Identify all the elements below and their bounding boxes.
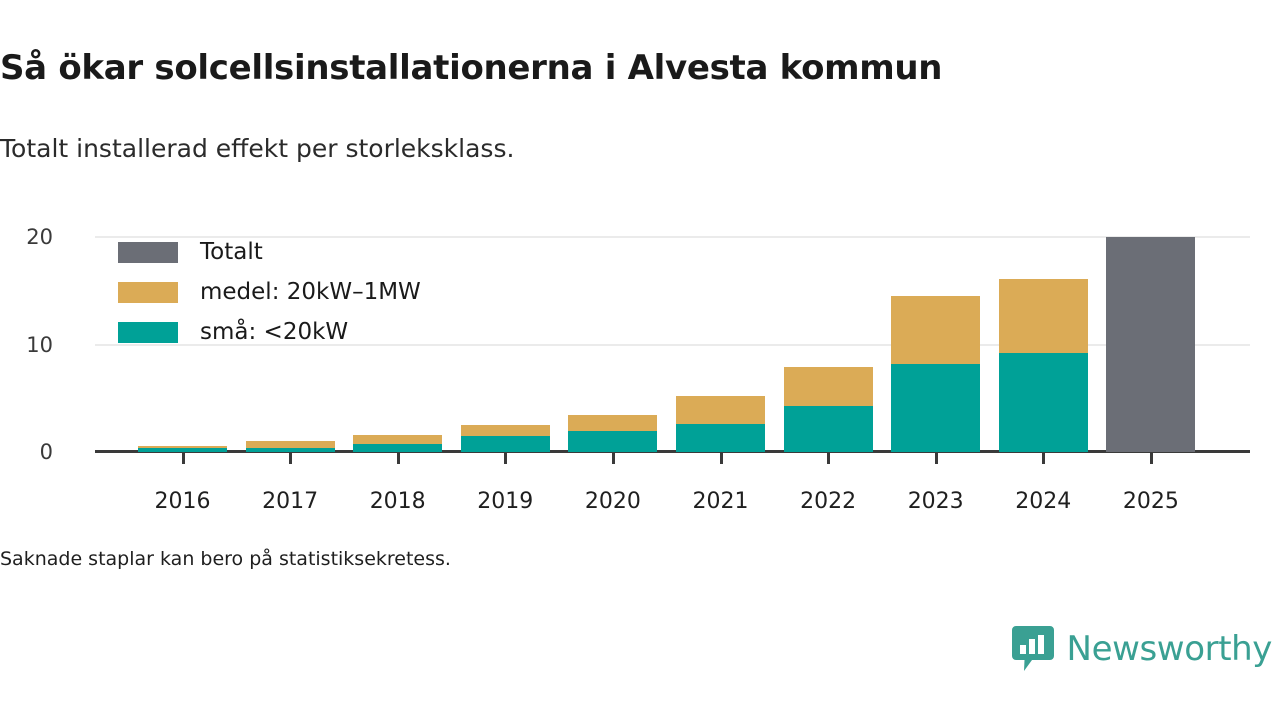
x-axis-tick-2023 xyxy=(935,452,938,464)
legend-label-total: Totalt xyxy=(200,239,263,265)
legend-swatch-total xyxy=(118,242,178,263)
bar-segment-small-2023[interactable] xyxy=(891,364,980,452)
bar-segment-small-2024[interactable] xyxy=(999,353,1088,452)
bar-segment-small-2019[interactable] xyxy=(461,436,550,452)
bar-segment-small-2021[interactable] xyxy=(676,424,765,452)
bar-segment-medium-2021[interactable] xyxy=(676,396,765,424)
x-axis-tick-2021 xyxy=(720,452,723,464)
x-axis-tick-2020 xyxy=(612,452,615,464)
legend-swatch-small xyxy=(118,322,178,343)
x-axis-tick-2016 xyxy=(182,452,185,464)
logo-wordmark: Newsworthy xyxy=(1067,629,1272,669)
bar-segment-medium-2017[interactable] xyxy=(246,441,335,447)
newsworthy-logo[interactable]: Newsworthy xyxy=(1012,626,1272,672)
bar-chart: Totalt medel: 20kW–1MW små: <20kW 010202… xyxy=(0,215,1280,505)
chart-footnote: Saknade staplar kan bero på statistiksek… xyxy=(0,548,451,570)
bar-segment-small-2018[interactable] xyxy=(353,444,442,452)
y-axis-tick-label: 0 xyxy=(0,440,53,464)
legend-label-small: små: <20kW xyxy=(200,319,348,345)
bar-segment-medium-2022[interactable] xyxy=(784,367,873,406)
legend-item-small[interactable]: små: <20kW xyxy=(118,312,421,352)
x-axis-tick-2017 xyxy=(289,452,292,464)
bar-segment-small-2022[interactable] xyxy=(784,406,873,452)
page-subtitle: Totalt installerad effekt per storlekskl… xyxy=(0,133,1240,165)
x-axis-tick-2019 xyxy=(504,452,507,464)
chart-page: Så ökar solcellsinstallationerna i Alves… xyxy=(0,0,1280,720)
bar-segment-medium-2023[interactable] xyxy=(891,296,980,364)
chart-legend: Totalt medel: 20kW–1MW små: <20kW xyxy=(118,232,421,352)
legend-item-medium[interactable]: medel: 20kW–1MW xyxy=(118,272,421,312)
bar-segment-medium-2019[interactable] xyxy=(461,425,550,436)
x-axis-tick-2022 xyxy=(827,452,830,464)
bar-segment-medium-2024[interactable] xyxy=(999,279,1088,353)
x-axis-label-2025: 2025 xyxy=(1071,489,1231,514)
page-title: Så ökar solcellsinstallationerna i Alves… xyxy=(0,48,1240,88)
y-axis-tick-label: 10 xyxy=(0,333,53,357)
bar-segment-small-2020[interactable] xyxy=(568,431,657,453)
legend-label-medium: medel: 20kW–1MW xyxy=(200,279,421,305)
legend-swatch-medium xyxy=(118,282,178,303)
bar-segment-medium-2016[interactable] xyxy=(138,446,227,448)
x-axis-tick-2025 xyxy=(1150,452,1153,464)
x-axis-tick-2018 xyxy=(397,452,400,464)
bar-segment-medium-2020[interactable] xyxy=(568,415,657,430)
bar-segment-medium-2018[interactable] xyxy=(353,435,442,445)
bar-segment-total-2025[interactable] xyxy=(1106,237,1195,452)
legend-item-total[interactable]: Totalt xyxy=(118,232,421,272)
bar-chart-speech-bubble-icon xyxy=(1012,626,1054,672)
y-axis-tick-label: 20 xyxy=(0,225,53,249)
x-axis-tick-2024 xyxy=(1042,452,1045,464)
